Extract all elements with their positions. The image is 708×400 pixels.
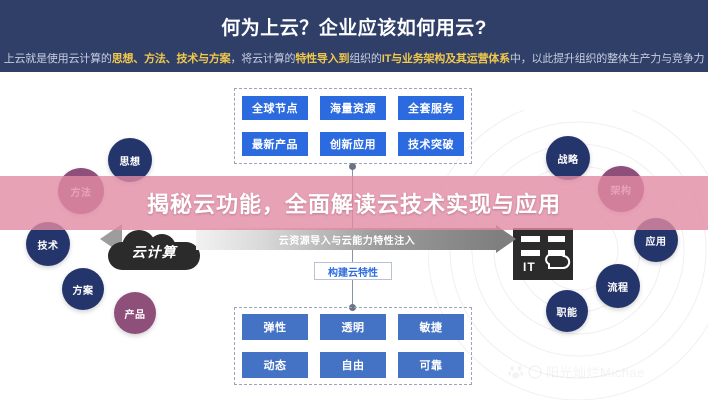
- subtitle-seg-5: IT与业务架构及其运营体系: [382, 53, 510, 65]
- chip-label: 最新产品: [252, 136, 298, 152]
- chip-global-node[interactable]: 全球节点: [242, 96, 308, 120]
- chip-label: 透明: [342, 319, 365, 335]
- chip-reliable[interactable]: 可靠: [398, 352, 464, 378]
- header-bar: 何为上云？企业应该如何用云? 上云就是使用云计算的思想、方法、技术与方案，将云计…: [0, 0, 708, 72]
- connector-dot-top: [349, 163, 356, 170]
- it-label: IT: [523, 260, 536, 274]
- chip-label: 创新应用: [330, 136, 376, 152]
- page-title: 何为上云？企业应该如何用云?: [0, 13, 708, 40]
- node-product[interactable]: 产品: [114, 292, 156, 334]
- chip-label: 海量资源: [330, 100, 376, 116]
- subtitle-seg-2: ，将云计算的: [231, 53, 296, 65]
- chip-transparent[interactable]: 透明: [320, 314, 386, 340]
- chip-label: 自由: [342, 357, 365, 373]
- chip-label: 全球节点: [252, 100, 298, 116]
- cloud-label: 云计算: [108, 242, 200, 262]
- subtitle-seg-4: 组织的: [349, 53, 381, 65]
- node-label: 技术: [38, 237, 59, 252]
- node-label: 流程: [608, 279, 629, 294]
- small-cloud-icon: [541, 251, 571, 273]
- chip-label: 弹性: [264, 319, 287, 335]
- node-solution[interactable]: 方案: [62, 268, 104, 310]
- window-bar: [548, 236, 565, 242]
- watermark: 阳光灿烂Michae: [508, 362, 645, 381]
- subtitle-seg-3: 特性导入到: [295, 53, 349, 65]
- chip-tech-breakthrough[interactable]: 技术突破: [398, 132, 464, 156]
- subtitle-seg-0: 上云就是使用云计算的: [4, 53, 112, 65]
- node-label: 应用: [646, 233, 667, 248]
- window-bar: [521, 250, 540, 256]
- chip-label: 技术突破: [408, 136, 454, 152]
- chip-agile[interactable]: 敏捷: [398, 314, 464, 340]
- node-function[interactable]: 职能: [546, 290, 588, 332]
- banner-title: 揭秘云功能，全面解读云技术实现与应用: [0, 176, 708, 230]
- node-label: 思想: [120, 153, 141, 168]
- chip-label: 全套服务: [408, 100, 454, 116]
- chip-label: 敏捷: [420, 319, 443, 335]
- chip-label: 可靠: [420, 357, 443, 373]
- header-subtitle: 上云就是使用云计算的思想、方法、技术与方案，将云计算的特性导入到组织的IT与业务…: [0, 50, 708, 66]
- node-label: 战略: [558, 151, 579, 166]
- baidu-paw-icon: [508, 364, 524, 380]
- window-bar: [521, 236, 540, 242]
- chip-elastic[interactable]: 弹性: [242, 314, 308, 340]
- node-label: 职能: [557, 304, 578, 319]
- node-strategy[interactable]: 战略: [546, 136, 590, 180]
- flow-arrow: 云资源导入与云能力特性注入: [196, 228, 516, 250]
- subtitle-seg-1: 思想、方法、技术与方案: [112, 53, 231, 65]
- chip-latest-product[interactable]: 最新产品: [242, 132, 308, 156]
- infographic-canvas: 何为上云？企业应该如何用云? 上云就是使用云计算的思想、方法、技术与方案，将云计…: [0, 0, 708, 400]
- chip-full-service[interactable]: 全套服务: [398, 96, 464, 120]
- subtitle-seg-6: 中，以此提升组织的整体生产力与竞争力: [510, 53, 704, 65]
- chip-massive-resource[interactable]: 海量资源: [320, 96, 386, 120]
- node-process[interactable]: 流程: [596, 264, 640, 308]
- build-cloud-feature-chip[interactable]: 构建云特性: [314, 262, 392, 280]
- node-label: 方案: [73, 282, 94, 297]
- cloud-computing-icon: 云计算: [108, 230, 200, 270]
- chip-innovative-application[interactable]: 创新应用: [320, 132, 386, 156]
- circle-badge-icon: [528, 365, 542, 379]
- chip-free[interactable]: 自由: [320, 352, 386, 378]
- chip-label: 动态: [264, 357, 287, 373]
- overlay-banner: 揭秘云功能，全面解读云技术实现与应用: [0, 176, 708, 230]
- watermark-text: 阳光灿烂Michae: [546, 362, 645, 381]
- mid-chip-label: 构建云特性: [328, 264, 378, 279]
- chip-dynamic[interactable]: 动态: [242, 352, 308, 378]
- node-label: 产品: [125, 306, 146, 321]
- flow-arrow-label: 云资源导入与云能力特性注入: [196, 232, 498, 247]
- it-building-cloud-icon: IT: [513, 228, 573, 280]
